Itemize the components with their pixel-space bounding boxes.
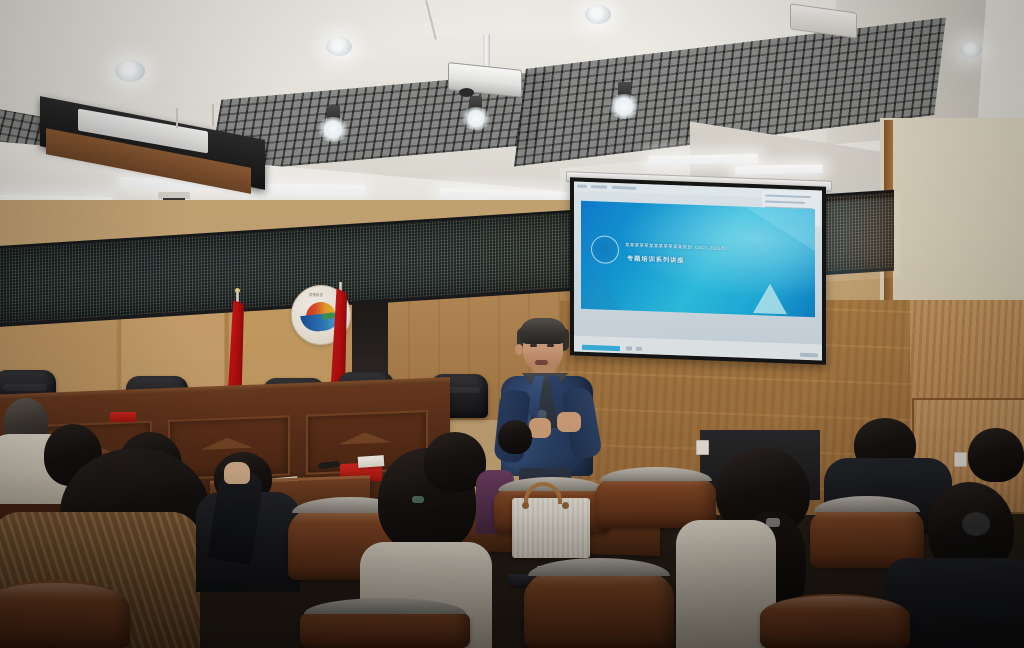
presenter-eye: [530, 344, 537, 347]
conference-hall-photo: · · · ·· · ·· · ·· · · · ·· · ·· · ·· · …: [0, 0, 1024, 648]
recessed-downlight: [585, 5, 611, 24]
auditorium-seat: [0, 580, 130, 648]
presentation-slide: 某某某某某某某某某某某某规划（2021-2025年） 专题培训系列讲座: [581, 201, 815, 318]
presenter-ear: [515, 344, 523, 355]
presenter-hair: [519, 318, 567, 344]
auditorium-seat-rim: [528, 558, 670, 576]
slide-seal-icon: [591, 235, 619, 264]
panel-line: [765, 194, 811, 198]
emblem-label: 学院标志: [309, 292, 323, 297]
handbag-stud: [522, 502, 529, 509]
titlebar-chip: [591, 185, 607, 189]
dais-panel-diamond: [201, 437, 253, 450]
taskbar-icon[interactable]: [636, 347, 642, 351]
eyeglasses: [962, 512, 990, 536]
handbag: [512, 498, 590, 558]
panel-line: [765, 200, 805, 203]
red-folder: [110, 412, 136, 422]
taskbar-clock: [800, 353, 818, 358]
titlebar-chip: [612, 186, 636, 190]
projection-screen-surface: 某某某某某某某某某某某某规划（2021-2025年） 专题培训系列讲座: [574, 181, 822, 360]
led-banner-text: · · · ·· · ·· · ··: [324, 247, 382, 256]
handbag-stud: [562, 502, 569, 509]
audience-head: [968, 428, 1024, 482]
taskbar-icon[interactable]: [626, 346, 632, 350]
presenter-hand-right: [557, 412, 581, 432]
papers: [358, 455, 385, 468]
presenter-mouth: [535, 360, 548, 365]
spotlight-glow: [460, 107, 492, 130]
light-switch: [696, 440, 709, 455]
spotlight-glow: [316, 117, 350, 142]
upper-wall-right: [880, 118, 1024, 318]
presenter-hand-left: [529, 418, 551, 438]
led-banner-text: · · · ·· · ·· · ··: [24, 278, 82, 287]
audience-hand: [224, 462, 250, 484]
projector-mount-pole: [483, 34, 490, 70]
hair-clip: [412, 496, 424, 503]
slide-subtitle-line: 专题培训系列讲座: [627, 253, 685, 264]
projector-lens: [459, 88, 474, 97]
light-switch: [954, 452, 967, 467]
presenter-eye: [547, 344, 554, 347]
desktop-taskbar[interactable]: [574, 335, 822, 360]
suspension-wire: [212, 104, 214, 126]
recessed-downlight: [326, 37, 352, 56]
linear-troffer-light: [735, 164, 823, 175]
titlebar-chip: [577, 185, 587, 188]
slide-triangle-decor: [745, 207, 815, 252]
slide-triangle-decor: [753, 283, 787, 314]
recessed-downlight: [960, 42, 982, 58]
auditorium-seat: [760, 594, 910, 648]
slide-triangle-decor: [581, 269, 624, 317]
linear-troffer-light: [648, 154, 758, 165]
projection-screen[interactable]: 某某某某某某某某某某某某规划（2021-2025年） 专题培训系列讲座: [570, 177, 826, 364]
audience-head: [498, 420, 532, 454]
suspension-wire: [176, 108, 178, 128]
spotlight-glow: [607, 94, 641, 119]
recessed-downlight: [115, 60, 145, 82]
slide-title-line: 某某某某某某某某某某某某规划（2021-2025年）: [625, 242, 730, 252]
dais-panel-diamond: [339, 431, 391, 444]
